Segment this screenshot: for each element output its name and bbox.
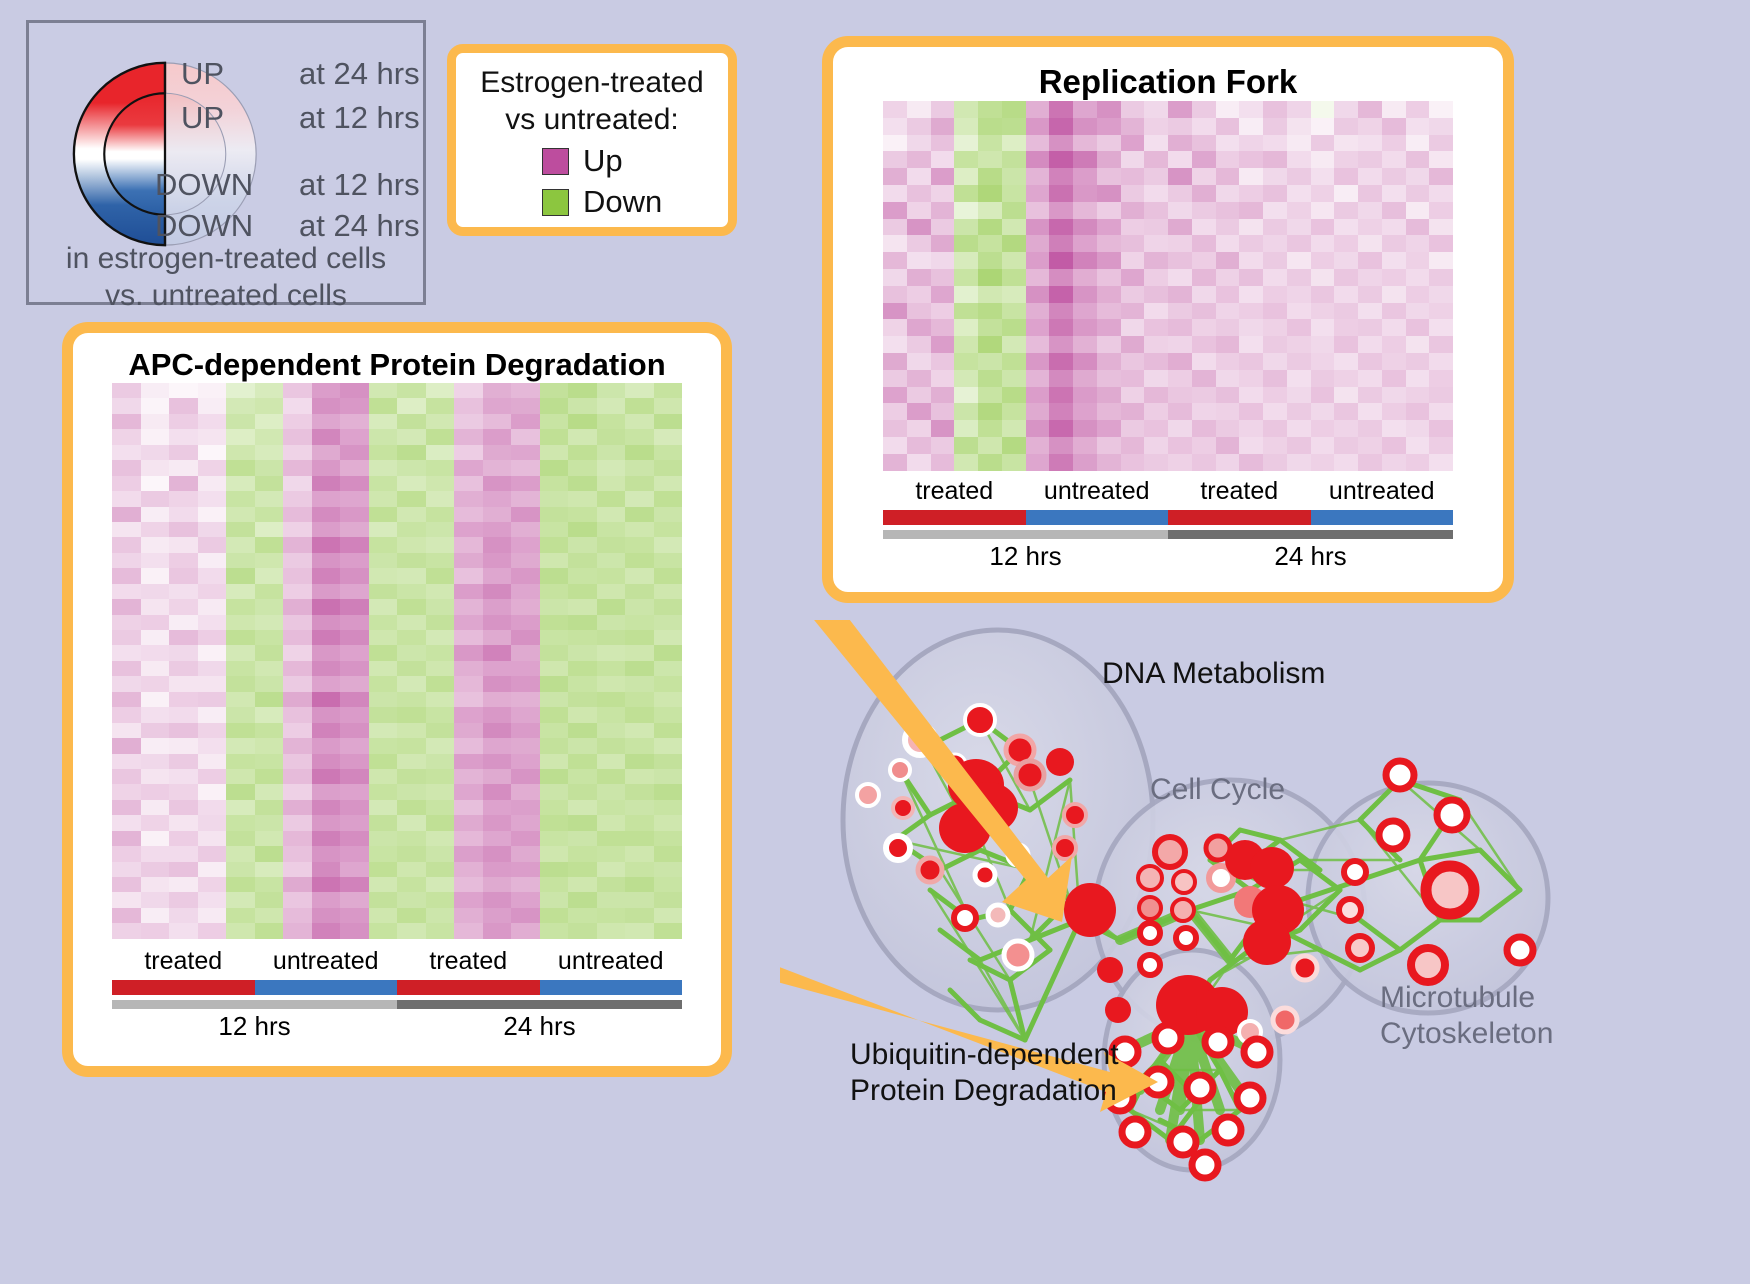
heatmap-cell [1382, 101, 1406, 118]
heatmap-cell [255, 414, 284, 429]
heatmap-cell [141, 507, 170, 522]
heatmap-cell [1168, 387, 1192, 404]
heatmap-cell [397, 846, 426, 861]
heatmap-cell [1002, 286, 1026, 303]
heatmap-row [112, 800, 682, 815]
heatmap-cell [426, 908, 455, 923]
heatmap-cell [283, 892, 312, 907]
heatmap-cell [540, 537, 569, 552]
heatmap-cell [255, 661, 284, 676]
heatmap-cell [226, 630, 255, 645]
heatmap-cell [1026, 336, 1050, 353]
heatmap-cell [954, 185, 978, 202]
heatmap-cell [568, 754, 597, 769]
heatmap-cell [511, 908, 540, 923]
heatmap-cell [1287, 437, 1311, 454]
bar-untreated-24 [540, 980, 683, 995]
heatmap-cell [1311, 303, 1335, 320]
heatmap-cell [454, 862, 483, 877]
heatmap-cell [540, 831, 569, 846]
heatmap-cell [255, 723, 284, 738]
heatmap-cell [568, 383, 597, 398]
heatmap-cell [540, 692, 569, 707]
heatmap-cell [1406, 235, 1430, 252]
heatmap-cell [169, 491, 198, 506]
heatmap-cell [568, 460, 597, 475]
heatmap-cell [340, 537, 369, 552]
heatmap-cell [141, 692, 170, 707]
heatmap-row [883, 252, 1453, 269]
heatmap-cell [283, 568, 312, 583]
heatmap-cell [1121, 168, 1145, 185]
heatmap-cell [397, 692, 426, 707]
heatmap-cell [1049, 403, 1073, 420]
heatmap-cell [1216, 370, 1240, 387]
heatmap-cell [1192, 403, 1216, 420]
heatmap-cell [169, 831, 198, 846]
heatmap-cell [1406, 403, 1430, 420]
heatmap-cell [883, 135, 907, 152]
heatmap-cell [198, 846, 227, 861]
heatmap-cell [369, 831, 398, 846]
heatmap-cell [625, 877, 654, 892]
heatmap-cell [255, 846, 284, 861]
heatmap-cell [978, 454, 1002, 471]
heatmap-row [883, 269, 1453, 286]
heatmap-cell [255, 707, 284, 722]
heatmap-cell [540, 584, 569, 599]
heatmap-cell [1334, 219, 1358, 236]
heatmap-cell [1406, 135, 1430, 152]
heatmap-cell [625, 398, 654, 413]
heatmap-cell [931, 235, 955, 252]
key-row-down-24: DOWNat 24 hrs [155, 208, 420, 244]
heatmap-cell [283, 507, 312, 522]
heatmap-cell [226, 584, 255, 599]
heatmap-cell [483, 661, 512, 676]
heatmap-cell [1239, 303, 1263, 320]
heatmap-cell [883, 387, 907, 404]
heatmap-cell [540, 599, 569, 614]
heatmap-cell [283, 553, 312, 568]
heatmap-cell [1239, 219, 1263, 236]
heatmap-cell [907, 370, 931, 387]
heatmap-cell [226, 645, 255, 660]
heatmap-cell [883, 370, 907, 387]
heatmap-cell [1121, 151, 1145, 168]
heatmap-row [112, 445, 682, 460]
heatmap-cell [978, 336, 1002, 353]
heatmap-cell [625, 892, 654, 907]
heatmap-cell [1239, 168, 1263, 185]
heatmap-cell [312, 846, 341, 861]
group-labels-replication-fork: treated untreated treated untreated [883, 477, 1453, 506]
heatmap-cell [1144, 101, 1168, 118]
heatmap-cell [1192, 118, 1216, 135]
bar-treated-12 [112, 980, 255, 995]
heatmap-cell [397, 460, 426, 475]
heatmap-cell [1049, 319, 1073, 336]
heatmap-cell [1049, 135, 1073, 152]
heatmap-cell [954, 252, 978, 269]
heatmap-cell [454, 892, 483, 907]
heatmap-cell [625, 738, 654, 753]
heatmap-cell [597, 429, 626, 444]
heatmap-cell [1358, 403, 1382, 420]
heatmap-cell [1358, 437, 1382, 454]
heatmap-cell [397, 507, 426, 522]
heatmap-cell [597, 460, 626, 475]
heatmap-cell [112, 522, 141, 537]
down-color-swatch [542, 189, 569, 216]
heatmap-cell [369, 630, 398, 645]
heatmap-cell [369, 800, 398, 815]
heatmap-cell [568, 738, 597, 753]
heatmap-cell [1429, 118, 1453, 135]
heatmap-cell [426, 507, 455, 522]
heatmap-cell [883, 168, 907, 185]
heatmap-cell [483, 584, 512, 599]
heatmap-cell [1239, 353, 1263, 370]
heatmap-cell [1311, 420, 1335, 437]
heatmap-cell [931, 252, 955, 269]
heatmap-cell [1192, 202, 1216, 219]
heatmap-cell [340, 800, 369, 815]
heatmap-cell [654, 429, 683, 444]
heatmap-cell [226, 522, 255, 537]
heatmap-cell [597, 445, 626, 460]
heatmap-cell [1216, 202, 1240, 219]
heatmap-cell [255, 522, 284, 537]
heatmap-cell [1026, 118, 1050, 135]
heatmap-cell [369, 414, 398, 429]
heatmap-cell [654, 615, 683, 630]
heatmap-cell [1216, 403, 1240, 420]
heatmap-cell [112, 398, 141, 413]
heatmap-cell [141, 429, 170, 444]
heatmap-cell [198, 429, 227, 444]
heatmap-cell [1406, 370, 1430, 387]
heatmap-cell [426, 754, 455, 769]
heatmap-cell [1334, 151, 1358, 168]
heatmap-cell [1311, 101, 1335, 118]
heatmap-cell [1073, 454, 1097, 471]
heatmap-cell [1311, 353, 1335, 370]
heatmap-cell [511, 800, 540, 815]
heatmap-cell [369, 445, 398, 460]
heatmap-cell [141, 846, 170, 861]
heatmap-cell [283, 877, 312, 892]
heatmap-row [883, 319, 1453, 336]
heatmap-cell [978, 151, 1002, 168]
heatmap-cell [511, 676, 540, 691]
heatmap-cell [1097, 269, 1121, 286]
heatmap-row [112, 692, 682, 707]
heatmap-cell [112, 769, 141, 784]
heatmap-cell [625, 692, 654, 707]
heatmap-cell [340, 507, 369, 522]
heatmap-cell [426, 707, 455, 722]
heatmap-cell [1263, 151, 1287, 168]
heatmap-cell [1287, 151, 1311, 168]
heatmap-cell [540, 862, 569, 877]
heatmap-cell [1192, 168, 1216, 185]
heatmap-cell [426, 661, 455, 676]
heatmap-cell [1097, 235, 1121, 252]
heatmap-cell [454, 491, 483, 506]
time-label-12: 12 hrs [883, 541, 1168, 572]
heatmap-cell [597, 738, 626, 753]
heatmap-row [883, 202, 1453, 219]
heatmap-cell [454, 630, 483, 645]
heatmap-cell [426, 815, 455, 830]
heatmap-row [112, 769, 682, 784]
heatmap-cell [1216, 118, 1240, 135]
heatmap-cell [1168, 454, 1192, 471]
heatmap-cell [255, 445, 284, 460]
heatmap-cell [255, 877, 284, 892]
heatmap-cell [540, 630, 569, 645]
heatmap-cell [654, 537, 683, 552]
heatmap-cell [340, 568, 369, 583]
heatmap-cell [625, 445, 654, 460]
heatmap-cell [112, 723, 141, 738]
heatmap-cell [454, 615, 483, 630]
heatmap-cell [1358, 319, 1382, 336]
heatmap-cell [1287, 118, 1311, 135]
heatmap-cell [483, 831, 512, 846]
heatmap-cell [883, 151, 907, 168]
heatmap-cell [1311, 319, 1335, 336]
heatmap-cell [1382, 202, 1406, 219]
heatmap-cell [397, 784, 426, 799]
heatmap-cell [483, 877, 512, 892]
heatmap-cell [397, 676, 426, 691]
heatmap-cell [226, 445, 255, 460]
heatmap-cell [1168, 135, 1192, 152]
heatmap-cell [1026, 286, 1050, 303]
heatmap-cell [426, 460, 455, 475]
heatmap-cell [978, 437, 1002, 454]
legend-title-line2: vs untreated: [456, 102, 728, 139]
heatmap-cell [454, 398, 483, 413]
heatmap-cell [340, 429, 369, 444]
heatmap-cell [226, 491, 255, 506]
heatmap-cell [1049, 336, 1073, 353]
heatmap-cell [1002, 387, 1026, 404]
heatmap-cell [454, 908, 483, 923]
heatmap-cell [112, 414, 141, 429]
heatmap-cell [625, 414, 654, 429]
heatmap-cell [568, 507, 597, 522]
heatmap-cell [397, 892, 426, 907]
heatmap-cell [540, 429, 569, 444]
heatmap-cell [198, 460, 227, 475]
heatmap-cell [255, 676, 284, 691]
heatmap-cell [511, 537, 540, 552]
heatmap-cell [141, 676, 170, 691]
heatmap-cell [454, 784, 483, 799]
heatmap-cell [625, 383, 654, 398]
heatmap-cell [226, 476, 255, 491]
heatmap-cell [1358, 269, 1382, 286]
group-label-1: untreated [1026, 477, 1169, 506]
heatmap-cell [625, 846, 654, 861]
heatmap-cell [597, 661, 626, 676]
key-row-down-12: DOWNat 12 hrs [155, 167, 420, 203]
heatmap-cell [312, 537, 341, 552]
heatmap-cell [1026, 219, 1050, 236]
heatmap-cell [169, 615, 198, 630]
heatmap-cell [312, 429, 341, 444]
heatmap-cell [369, 599, 398, 614]
heatmap-cell [511, 491, 540, 506]
key-label-down-12: DOWN [155, 167, 299, 203]
heatmap-cell [1026, 454, 1050, 471]
heatmap-cell [1168, 101, 1192, 118]
heatmap-cell [978, 135, 1002, 152]
heatmap-cell [198, 568, 227, 583]
heatmap-cell [1073, 151, 1097, 168]
heatmap-cell [1334, 437, 1358, 454]
heatmap-row [112, 707, 682, 722]
heatmap-cell [483, 908, 512, 923]
heatmap-cell [340, 398, 369, 413]
legend-item-up: Up [542, 143, 728, 179]
heatmap-cell [1097, 252, 1121, 269]
heatmap-cell [283, 769, 312, 784]
heatmap-cell [483, 398, 512, 413]
heatmap-cell [625, 460, 654, 475]
heatmap-cell [369, 707, 398, 722]
heatmap-cell [1358, 387, 1382, 404]
heatmap-cell [883, 353, 907, 370]
heatmap-cell [1168, 235, 1192, 252]
key-time-down-12: at 12 hrs [299, 167, 420, 202]
heatmap-cell [454, 383, 483, 398]
heatmap-cell [1239, 370, 1263, 387]
heatmap-cell [198, 491, 227, 506]
heatmap-cell [340, 630, 369, 645]
heatmap-cell [169, 815, 198, 830]
heatmap-row [112, 892, 682, 907]
heatmap-cell [625, 507, 654, 522]
heatmap-cell [198, 676, 227, 691]
heatmap-cell [1144, 151, 1168, 168]
heatmap-cell [454, 599, 483, 614]
heatmap-cell [112, 383, 141, 398]
heatmap-cell [226, 892, 255, 907]
heatmap-cell [141, 707, 170, 722]
heatmap-cell [1216, 151, 1240, 168]
heatmap-row [883, 437, 1453, 454]
heatmap-cell [1358, 151, 1382, 168]
heatmap-cell [1121, 252, 1145, 269]
heatmap-cell [483, 784, 512, 799]
heatmap-cell [1382, 135, 1406, 152]
heatmap-cell [1334, 319, 1358, 336]
heatmap-cell [1026, 101, 1050, 118]
heatmap-cell [907, 286, 931, 303]
heatmap-cell [226, 553, 255, 568]
heatmap-cell [1406, 269, 1430, 286]
heatmap-cell [312, 383, 341, 398]
heatmap-cell [112, 692, 141, 707]
heatmap-cell [340, 445, 369, 460]
heatmap-cell [1026, 135, 1050, 152]
heatmap-cell [283, 738, 312, 753]
heatmap-cell [1002, 135, 1026, 152]
heatmap-row [883, 387, 1453, 404]
heatmap-cell [340, 923, 369, 938]
heatmap-cell [625, 645, 654, 660]
heatmap-cell [369, 754, 398, 769]
time-label-24: 24 hrs [397, 1011, 682, 1042]
heatmap-cell [112, 923, 141, 938]
key-time-down-24: at 24 hrs [299, 208, 420, 243]
heatmap-cell [568, 676, 597, 691]
heatmap-cell [1216, 219, 1240, 236]
heatmap-cell [931, 151, 955, 168]
heatmap-cell [954, 118, 978, 135]
heatmap-cell [1263, 319, 1287, 336]
heatmap-cell [1073, 303, 1097, 320]
heatmap-cell [511, 723, 540, 738]
heatmap-cell [540, 476, 569, 491]
heatmap-cell [283, 846, 312, 861]
heatmap-cell [1192, 454, 1216, 471]
heatmap-cell [1382, 219, 1406, 236]
heatmap-cell [312, 707, 341, 722]
heatmap-cell [568, 522, 597, 537]
heatmap-cell [907, 151, 931, 168]
heatmap-row [883, 235, 1453, 252]
heatmap-cell [112, 862, 141, 877]
heatmap-cell [169, 707, 198, 722]
heatmap-cell [141, 877, 170, 892]
heatmap-cell [597, 769, 626, 784]
heatmap-cell [1406, 168, 1430, 185]
heatmap-cell [1216, 168, 1240, 185]
heatmap-cell [1216, 286, 1240, 303]
heatmap-cell [141, 723, 170, 738]
heatmap-cell [1097, 353, 1121, 370]
heatmap-cell [1121, 303, 1145, 320]
heatmap-cell [1334, 269, 1358, 286]
heatmap-cell [369, 908, 398, 923]
heatmap-cell [426, 769, 455, 784]
heatmap-cell [568, 398, 597, 413]
heatmap-cell [1168, 286, 1192, 303]
heatmap-cell [198, 630, 227, 645]
time-color-bar-replication-fork [883, 530, 1453, 539]
heatmap-cell [1026, 269, 1050, 286]
heatmap-cell [597, 383, 626, 398]
heatmap-cell [1429, 135, 1453, 152]
heatmap-cell [483, 429, 512, 444]
heatmap-cell [1168, 353, 1192, 370]
heatmap-cell [255, 892, 284, 907]
heatmap-row [112, 831, 682, 846]
heatmap-cell [340, 460, 369, 475]
heatmap-cell [397, 537, 426, 552]
heatmap-cell [954, 319, 978, 336]
heatmap-cell [169, 769, 198, 784]
heatmap-cell [397, 568, 426, 583]
heatmap-cell [141, 908, 170, 923]
heatmap-cell [198, 383, 227, 398]
heatmap-cell [1239, 269, 1263, 286]
